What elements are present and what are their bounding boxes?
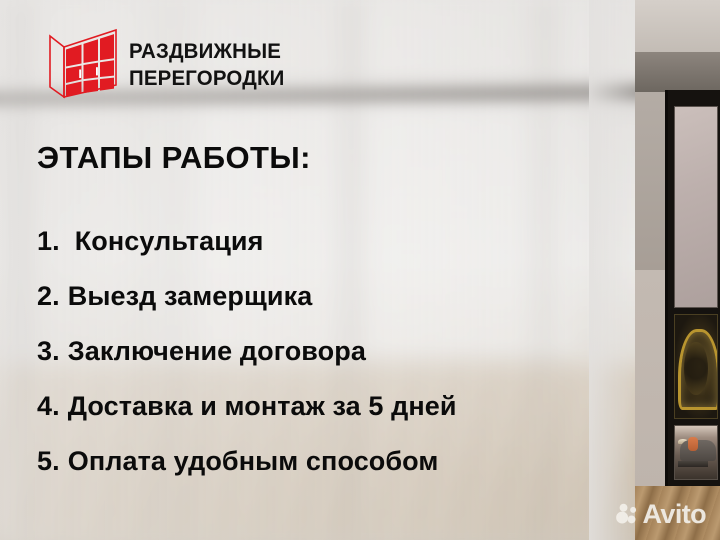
- brand-logo-line-1: РАЗДВИЖНЫЕ: [129, 41, 285, 63]
- photo-ceiling: [635, 0, 720, 52]
- step-number: 3.: [37, 336, 60, 367]
- list-item: 4. Доставка и монтаж за 5 дней: [37, 391, 457, 446]
- step-label: Доставка и монтаж за 5 дней: [68, 391, 457, 422]
- brand-logo-text: РАЗДВИЖНЫЕ ПЕРЕГОРОДКИ: [129, 41, 293, 89]
- step-number: 4.: [37, 391, 60, 422]
- photo-partition-frame: [665, 90, 720, 486]
- list-item: 3. Заключение договора: [37, 336, 457, 391]
- partition-photo-strip: [635, 0, 720, 540]
- list-item: 2. Выезд замерщика: [37, 281, 457, 336]
- avito-label: Avito: [643, 501, 707, 528]
- list-item: 5. Оплата удобным способом: [37, 446, 457, 501]
- photo-cushion: [688, 437, 698, 452]
- sliding-partition-icon: [47, 27, 119, 103]
- photo-wall-band: [635, 52, 720, 92]
- list-item: 1. Консультация: [37, 226, 457, 281]
- brand-logo-line-2: ПЕРЕГОРОДКИ: [129, 68, 285, 90]
- step-number: 1.: [37, 226, 60, 257]
- photo-coffee-table: [678, 461, 707, 467]
- step-label: Консультация: [75, 226, 264, 257]
- photo-decorative-mirror-panel: [674, 314, 718, 419]
- step-label: Оплата удобным способом: [68, 446, 439, 477]
- photo-room-reflection: [674, 425, 718, 480]
- brand-logo: РАЗДВИЖНЫЕ ПЕРЕГОРОДКИ: [47, 27, 293, 103]
- avito-watermark: Avito: [615, 501, 707, 528]
- steps-list: 1. Консультация 2. Выезд замерщика 3. За…: [37, 226, 457, 501]
- photo-glass-panel: [674, 106, 718, 308]
- step-label: Заключение договора: [68, 336, 366, 367]
- step-number: 5.: [37, 446, 60, 477]
- page-title: ЭТАПЫ РАБОТЫ:: [37, 140, 311, 176]
- step-number: 2.: [37, 281, 60, 312]
- photo-sofa: [680, 440, 716, 461]
- advertisement-banner: РАЗДВИЖНЫЕ ПЕРЕГОРОДКИ ЭТАПЫ РАБОТЫ: 1. …: [0, 0, 720, 540]
- avito-dots-icon: [615, 503, 638, 526]
- step-label: Выезд замерщика: [68, 281, 313, 312]
